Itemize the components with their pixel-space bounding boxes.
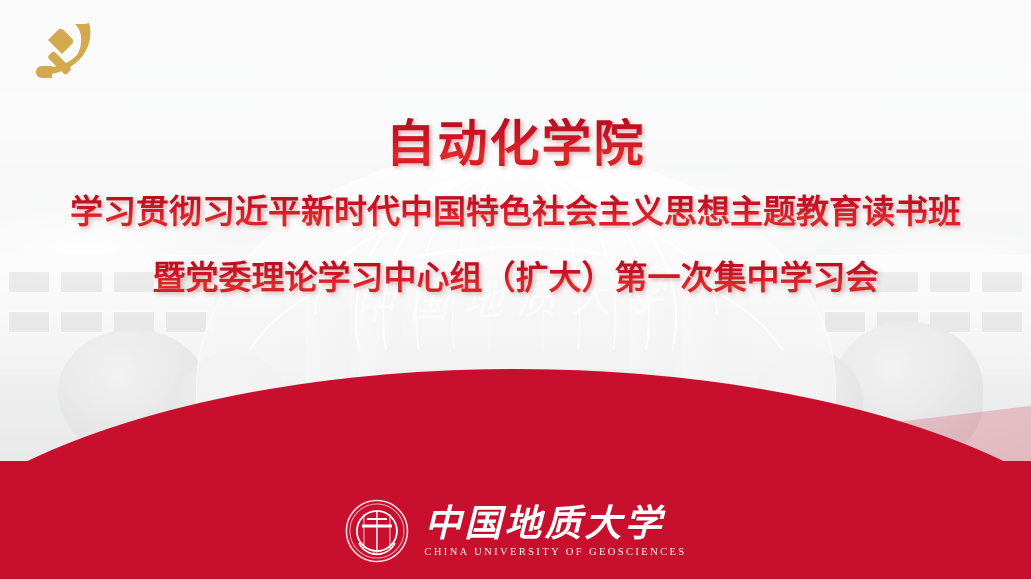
presentation-title-slide: 中国地质大学 朴 素 求 自动化学院 学习贯彻习近平新时代中国特 — [0, 0, 1031, 579]
hammer-and-sickle-icon — [28, 18, 100, 84]
title-block: 自动化学院 学习贯彻习近平新时代中国特色社会主义思想主题教育读书班 暨党委理论学… — [0, 118, 1031, 299]
university-name-cn: 中国地质大学 — [424, 504, 664, 543]
university-logo: 1952 中国地质大学 CHINA UNIVERSITY OF GEOSCIEN… — [344, 499, 686, 563]
subtitle-line-2: 暨党委理论学习中心组（扩大）第一次集中学习会 — [0, 257, 1031, 299]
page-title: 自动化学院 — [0, 118, 1031, 171]
university-seal-icon: 1952 — [344, 499, 408, 563]
seal-year: 1952 — [371, 552, 382, 557]
university-name-block: 中国地质大学 CHINA UNIVERSITY OF GEOSCIENCES — [424, 504, 686, 559]
subtitle-line-1: 学习贯彻习近平新时代中国特色社会主义思想主题教育读书班 — [0, 191, 1031, 233]
university-name-en: CHINA UNIVERSITY OF GEOSCIENCES — [424, 547, 686, 558]
